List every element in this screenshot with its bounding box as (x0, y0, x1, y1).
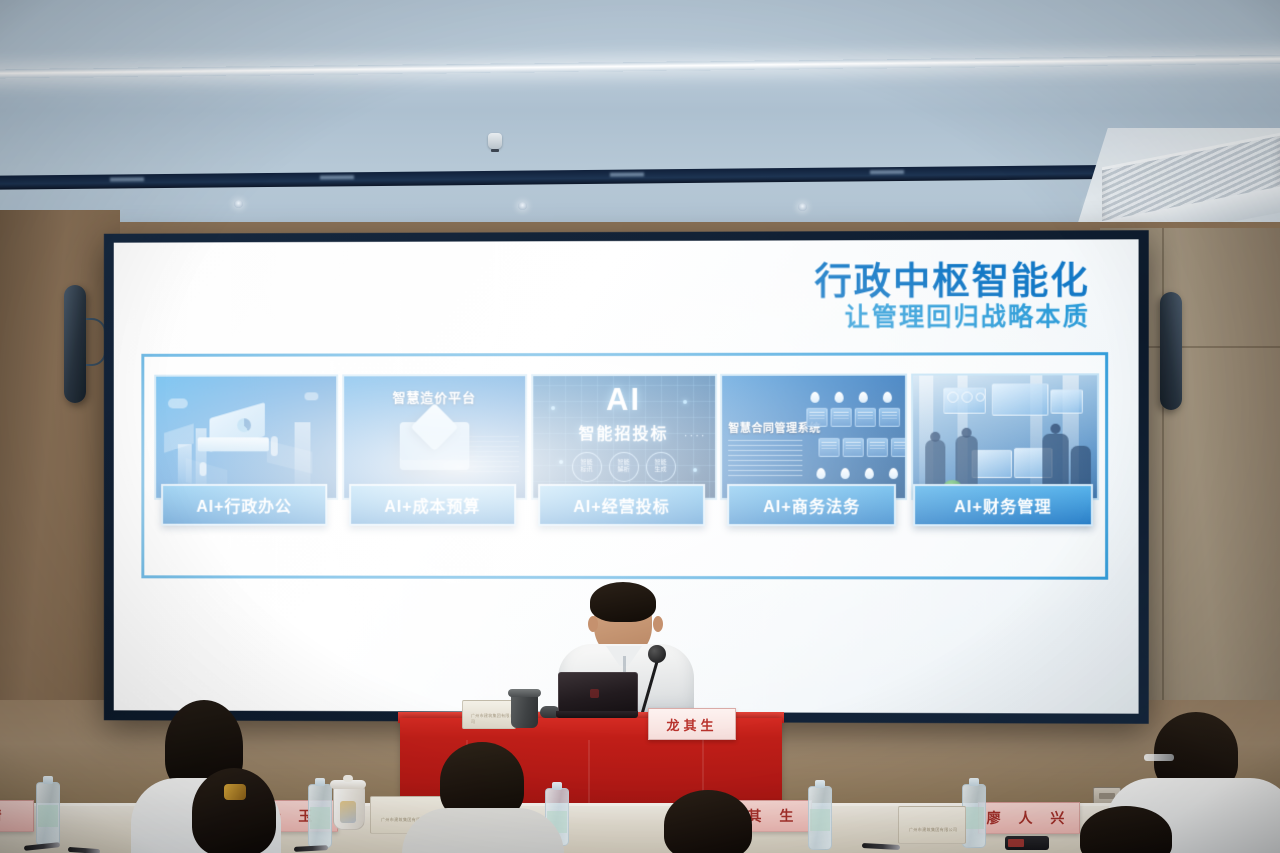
slide-card-panel: AI+行政办公 智慧造价平台 AI+成本预算 (141, 352, 1108, 580)
card-thumbnail-isometric-office (154, 374, 338, 499)
conference-room-scene: 行政中枢智能化 让管理回归战略本质 (0, 0, 1280, 853)
smartphone (1005, 836, 1049, 850)
led-strip-light (0, 54, 1280, 78)
card-thumb-badge-row: 智能标讯 智能解析 智能生成 (533, 452, 715, 482)
downlight (798, 203, 807, 211)
audience-nameplate: 情 (0, 800, 34, 832)
slide-card-cost-budget: 智慧造价平台 AI+成本预算 (342, 374, 523, 526)
audience-shoulder (402, 808, 564, 853)
card-thumbnail-smart-office (911, 373, 1099, 500)
slide-card-row: AI+行政办公 智慧造价平台 AI+成本预算 (154, 373, 1095, 526)
card-thumb-badge: 智能生成 (646, 452, 676, 482)
card-thumb-badge: 智能解析 (609, 452, 639, 482)
wall-speaker-right (1160, 292, 1182, 410)
laptop-logo-icon (590, 689, 599, 698)
light-track (0, 164, 1180, 189)
card-thumbnail-ai-bidding: AI 智能招投标 ···· 智能标讯 智能解析 智能生成 (531, 374, 717, 500)
pen (68, 847, 100, 853)
slide-title: 行政中枢智能化 (814, 262, 1089, 302)
tea-cup-knob (343, 775, 353, 782)
slide-card-legal-affairs: 智慧合同管理系统 (720, 374, 903, 527)
eyeglasses-icon (1144, 754, 1174, 761)
water-bottle (308, 784, 332, 848)
card-thumbnail-contract-system: 智慧合同管理系统 (720, 374, 907, 501)
audience-hair (1080, 806, 1172, 853)
slide-card-bidding: AI 智能招投标 ···· 智能标讯 智能解析 智能生成 AI+经营投标 (531, 374, 713, 526)
card-label: AI+商务法务 (727, 484, 896, 526)
audience-tissue-box: 广州市建筑集团有限公司 (898, 806, 966, 844)
card-label: AI+行政办公 (161, 484, 327, 526)
card-label: AI+财务管理 (913, 484, 1094, 526)
card-thumb-dots: ···· (684, 430, 707, 442)
tea-cup (333, 786, 365, 830)
audience-person (1062, 806, 1202, 853)
downlight (518, 202, 527, 210)
slide-title-block: 行政中枢智能化 让管理回归战略本质 (814, 262, 1089, 332)
wall-speaker-left (64, 285, 86, 403)
microphone-head-icon (648, 645, 666, 663)
card-thumbnail-cost-platform: 智慧造价平台 (342, 374, 527, 500)
card-label: AI+成本预算 (349, 484, 516, 526)
water-bottle (808, 786, 832, 850)
audience-hair (192, 768, 276, 853)
presenter-hair (590, 582, 656, 622)
hair-clip-icon (224, 784, 246, 800)
contract-flow-diagram (807, 392, 900, 484)
water-bottle (36, 782, 60, 846)
tea-tumbler-lid (508, 689, 541, 697)
slide-subtitle: 让管理回归战略本质 (814, 304, 1089, 331)
card-label: AI+经营投标 (538, 484, 706, 526)
tissue-box-text: 广州市建筑集团有限公司 (471, 713, 515, 725)
tissue-box: 广州市建筑集团有限公司 (462, 700, 516, 729)
downlight (234, 200, 243, 208)
audience-hair (664, 790, 752, 853)
presenter-ear (653, 616, 663, 632)
audience-person (172, 768, 302, 853)
audience-person (640, 790, 780, 853)
slide-card-finance: AI+财务管理 (911, 373, 1095, 526)
slide-card-admin-office: AI+行政办公 (154, 374, 334, 525)
audience-person (408, 742, 558, 853)
card-thumb-caption: AI (533, 382, 715, 418)
smoke-detector-icon (488, 133, 502, 149)
tea-tumbler (511, 694, 538, 728)
tissue-box-text: 广州市建筑集团有限公司 (909, 827, 957, 833)
presenter-laptop (556, 672, 638, 718)
presenter-nameplate: 龙其生 (648, 708, 736, 740)
left-wall-panel (0, 210, 120, 770)
presenter-ear (588, 616, 598, 632)
card-thumb-badge: 智能标讯 (572, 452, 602, 482)
